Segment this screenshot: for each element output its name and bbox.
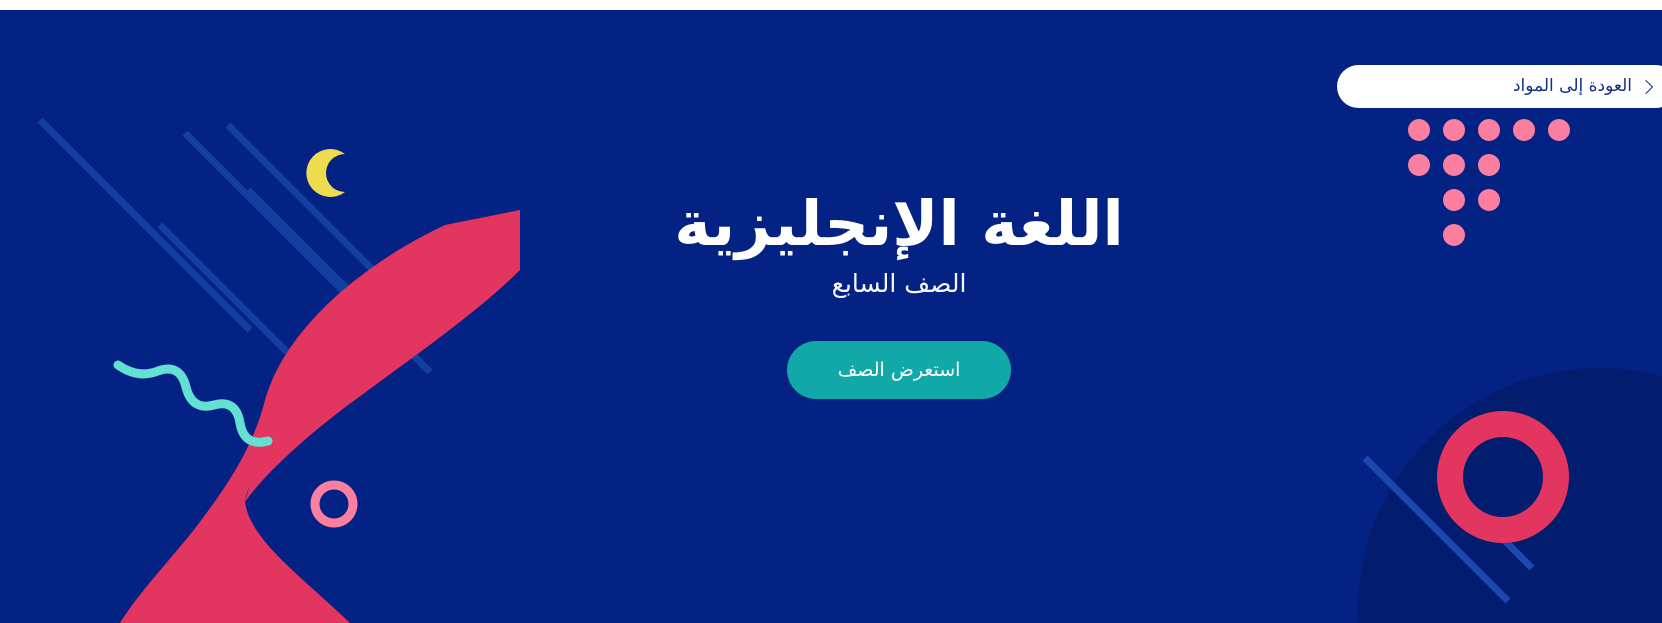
hero-content: اللغة الإنجليزية الصف السابع استعرض الصف <box>0 188 1662 399</box>
top-white-strip <box>0 0 1662 10</box>
browse-class-button[interactable]: استعرض الصف <box>787 341 1011 399</box>
page-subtitle: الصف السابع <box>0 269 1662 299</box>
back-to-subjects-label: العودة إلى المواد <box>1513 78 1632 95</box>
hero-banner: العودة إلى المواد اللغة الإنجليزية الصف … <box>0 0 1662 623</box>
cta-container: استعرض الصف <box>0 341 1662 399</box>
dot-grid-decoration-extra <box>1548 119 1570 141</box>
chevron-left-icon <box>1639 79 1653 93</box>
back-to-subjects-button[interactable]: العودة إلى المواد <box>1337 65 1662 108</box>
page-title: اللغة الإنجليزية <box>0 188 1662 259</box>
